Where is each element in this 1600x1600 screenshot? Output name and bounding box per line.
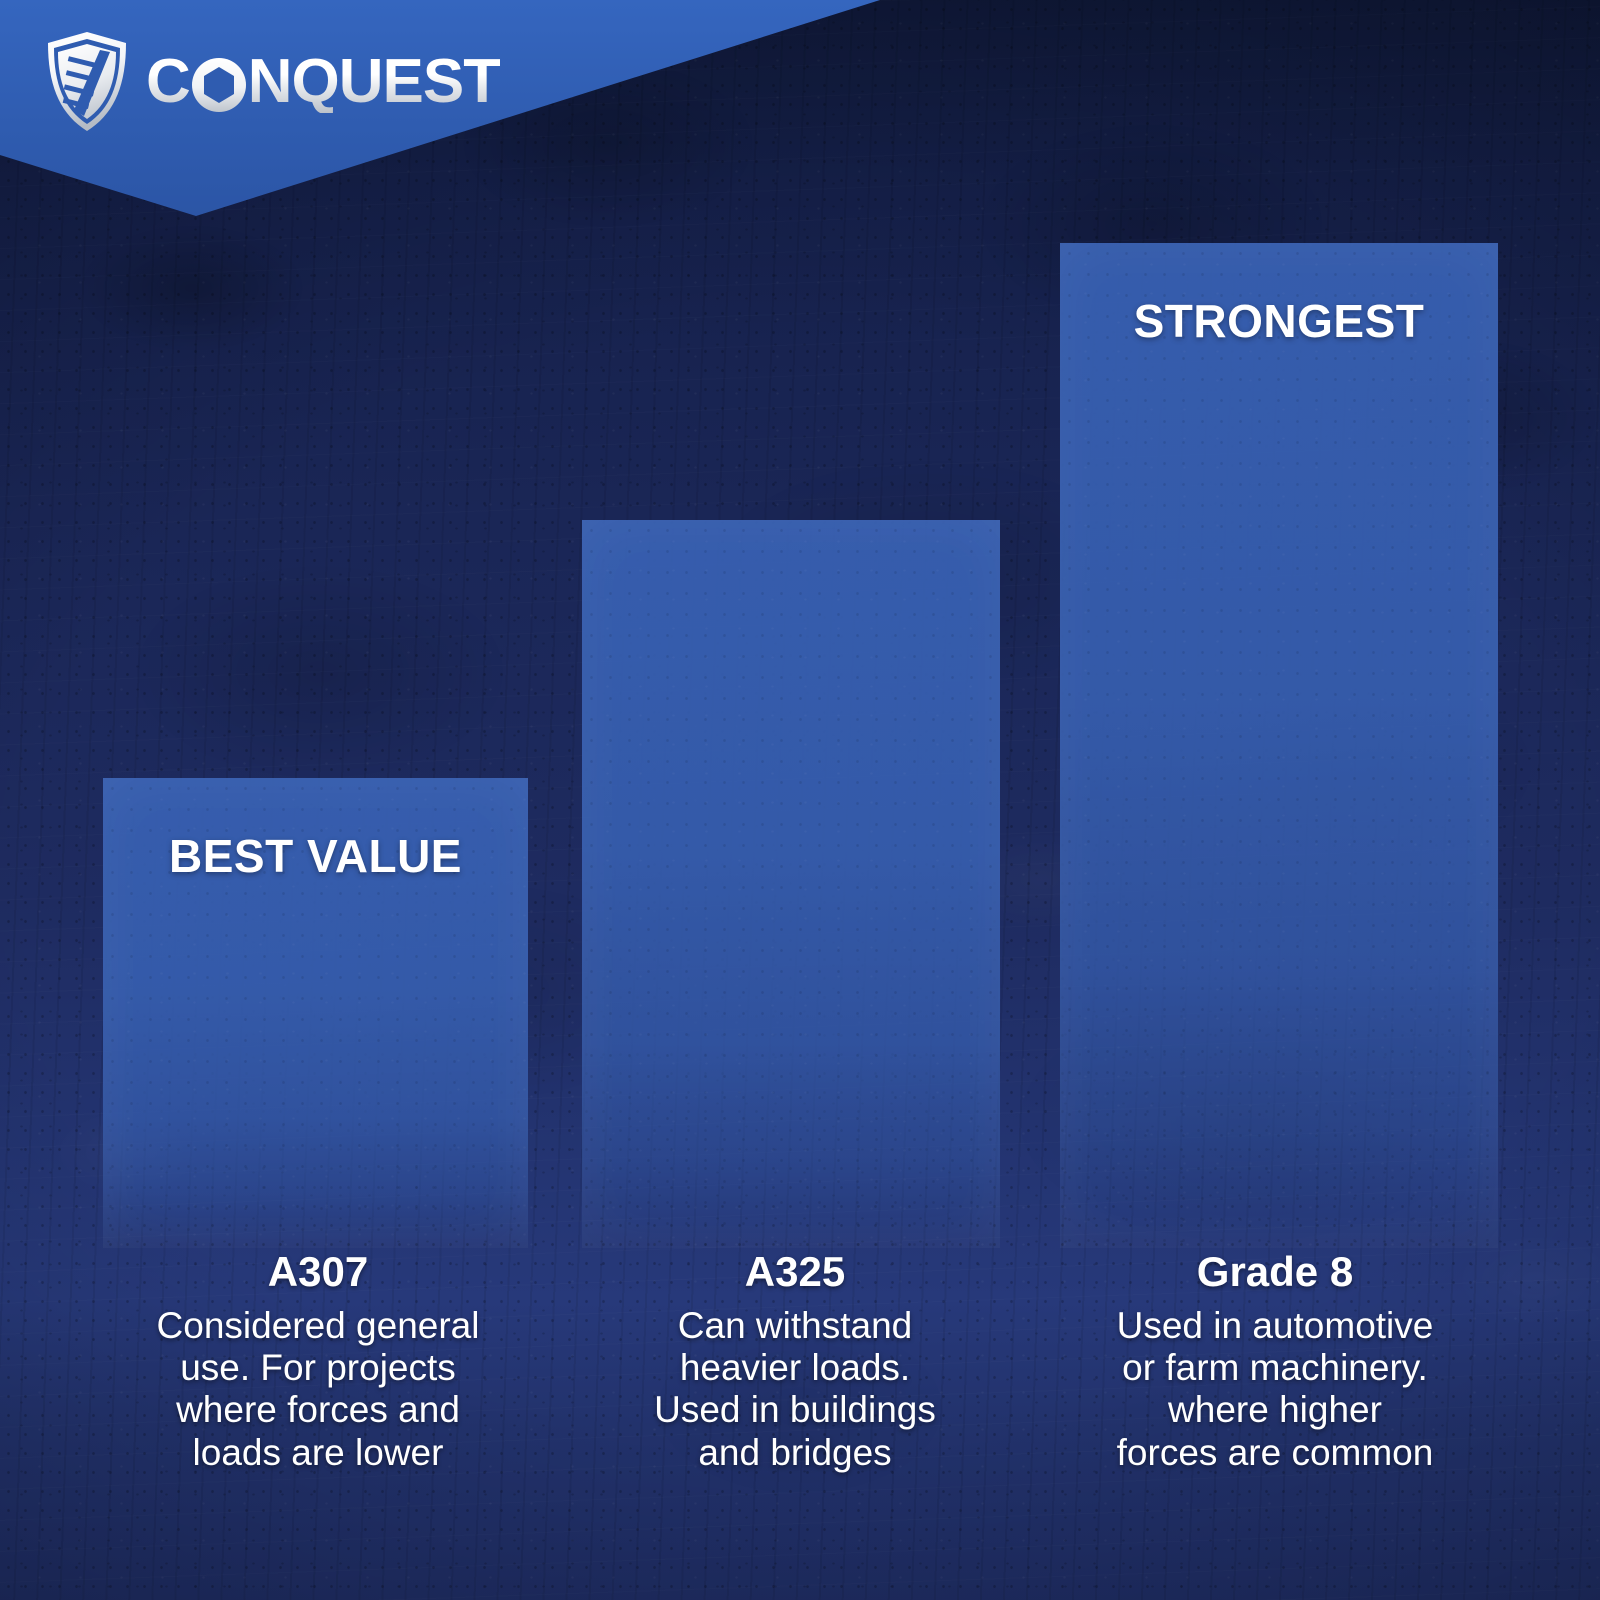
brand-wordmark-part-2: NQUEST — [248, 51, 500, 113]
caption-grade-8: Grade 8 Used in automotive or farm machi… — [1040, 1248, 1510, 1474]
caption-line: and bridges — [570, 1432, 1020, 1474]
caption-title: A325 — [570, 1248, 1020, 1295]
caption-line: or farm machinery. — [1040, 1347, 1510, 1389]
badge-strongest: STRONGEST — [1060, 298, 1498, 344]
brand-lockup[interactable]: C NQUEST — [44, 30, 500, 134]
brand-wordmark: C NQUEST — [146, 51, 500, 113]
caption-a325: A325 Can withstand heavier loads. Used i… — [570, 1248, 1020, 1474]
brand-wordmark-part-1: C — [146, 51, 190, 113]
caption-line: loads are lower — [88, 1432, 548, 1474]
caption-line: Used in buildings — [570, 1389, 1020, 1431]
caption-line: Used in automotive — [1040, 1305, 1510, 1347]
caption-line: where forces and — [88, 1389, 548, 1431]
caption-description: Used in automotive or farm machinery. wh… — [1040, 1305, 1510, 1474]
infographic-canvas: C NQUEST BEST VALUE — [0, 0, 1600, 1600]
hex-nut-icon — [191, 57, 247, 113]
caption-title: A307 — [88, 1248, 548, 1295]
caption-description: Can withstand heavier loads. Used in bui… — [570, 1305, 1020, 1474]
caption-line: forces are common — [1040, 1432, 1510, 1474]
bar-grade-8[interactable]: STRONGEST — [1060, 243, 1498, 1248]
caption-line: use. For projects — [88, 1347, 548, 1389]
caption-a307: A307 Considered general use. For project… — [88, 1248, 548, 1474]
caption-title: Grade 8 — [1040, 1248, 1510, 1295]
caption-line: Considered general — [88, 1305, 548, 1347]
bar-texture — [582, 520, 1000, 1248]
bar-texture — [1060, 243, 1498, 1248]
caption-line: Can withstand — [570, 1305, 1020, 1347]
shield-screw-icon — [44, 30, 130, 134]
bar-a325[interactable] — [582, 520, 1000, 1248]
caption-description: Considered general use. For projects whe… — [88, 1305, 548, 1474]
badge-best-value: BEST VALUE — [103, 833, 528, 879]
caption-line: where higher — [1040, 1389, 1510, 1431]
caption-line: heavier loads. — [570, 1347, 1020, 1389]
bar-a307[interactable]: BEST VALUE — [103, 778, 528, 1248]
